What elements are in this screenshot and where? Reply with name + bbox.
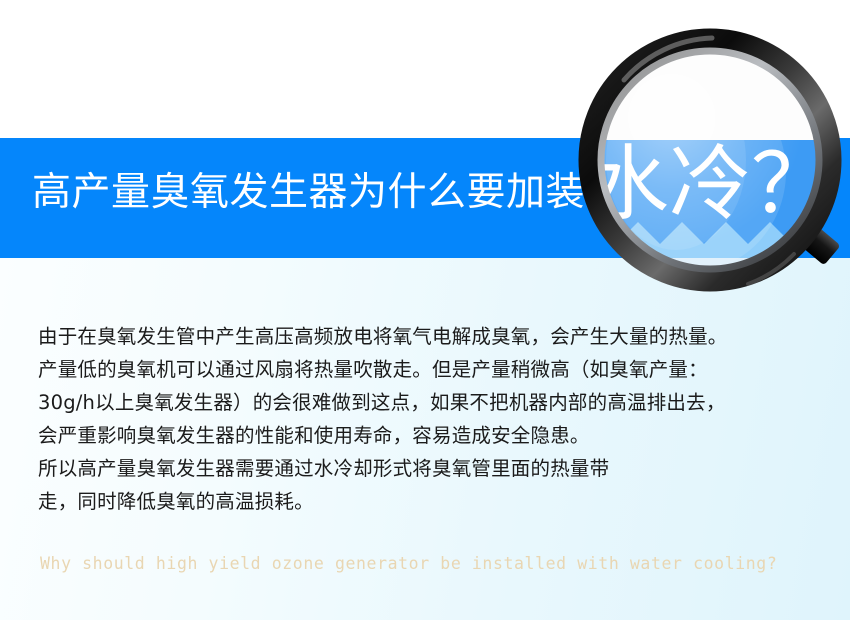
top-white-strip [0, 0, 850, 138]
body-paragraph: 由于在臭氧发生管中产生高压高频放电将氧气电解成臭氧，会产生大量的热量。 产量低的… [38, 320, 828, 518]
body-line: 产量低的臭氧机可以通过风扇将热量吹散走。但是产量稍微高（如臭氧产量： [38, 353, 828, 386]
body-line: 走，同时降低臭氧的高温损耗。 [38, 485, 828, 518]
banner-title: 高产量臭氧发生器为什么要加装 [32, 137, 585, 240]
body-line: 会严重影响臭氧发生器的性能和使用寿命，容易造成安全隐患。 [38, 419, 828, 452]
body-line: 由于在臭氧发生管中产生高压高频放电将氧气电解成臭氧，会产生大量的热量。 [38, 320, 828, 353]
body-line: 所以高产量臭氧发生器需要通过水冷却形式将臭氧管里面的热量带 [38, 452, 828, 485]
promo-banner-page: 高产量臭氧发生器为什么要加装 由于在臭氧发生管中产生高压高频放电将氧气电解成臭氧… [0, 0, 850, 620]
content-panel: 由于在臭氧发生管中产生高压高频放电将氧气电解成臭氧，会产生大量的热量。 产量低的… [0, 258, 850, 620]
body-line: 30g/h以上臭氧发生器）的会很难做到这点，如果不把机器内部的高温排出去， [38, 386, 828, 419]
banner-zigzag-edge [0, 240, 850, 258]
english-caption: Why should high yield ozone generator be… [40, 554, 777, 573]
